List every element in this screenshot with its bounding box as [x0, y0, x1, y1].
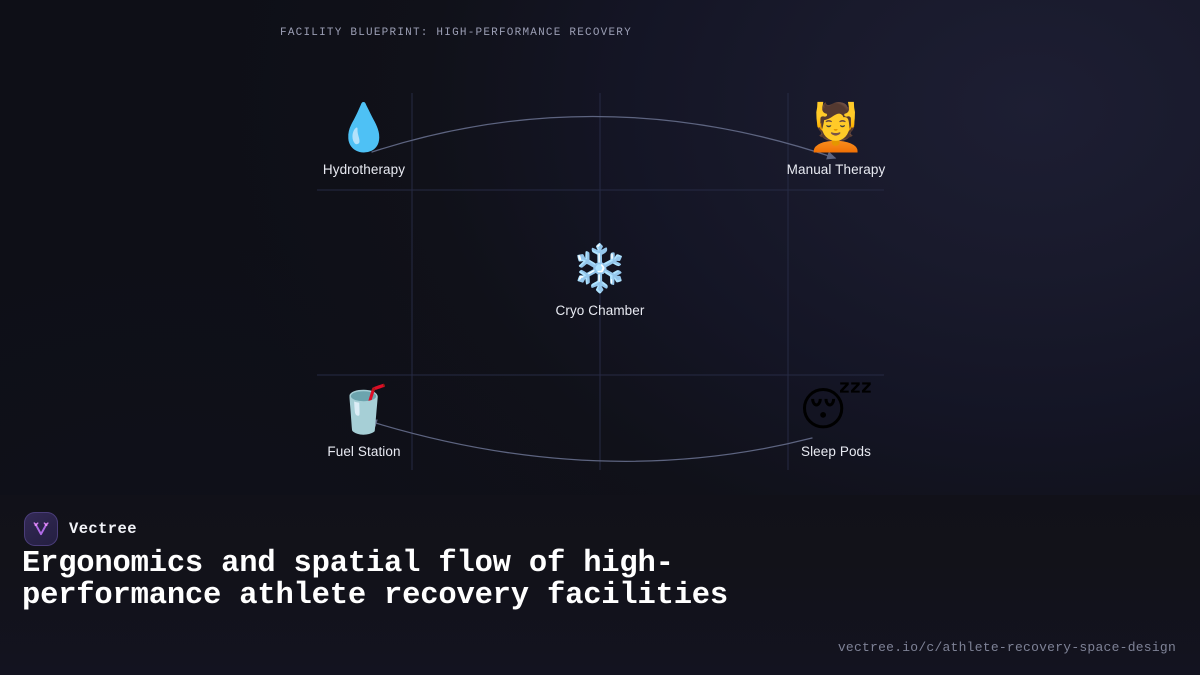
snowflake-icon: ❄️	[525, 245, 675, 291]
screenshot-root: FACILITY BLUEPRINT: HIGH-PERFORMANCE REC…	[0, 0, 1200, 675]
node-label-sleep-pods: Sleep Pods	[761, 444, 911, 459]
massage-icon: 💆	[761, 104, 911, 150]
diagram-node-fuel-station[interactable]: 🥤 Fuel Station	[289, 386, 439, 459]
brand-row[interactable]: Vectree	[24, 512, 137, 546]
node-label-fuel-station: Fuel Station	[289, 444, 439, 459]
facility-diagram: 💧 Hydrotherapy 💆 Manual Therapy ❄️ Cryo …	[0, 0, 1200, 495]
vectree-mark	[30, 518, 52, 540]
node-label-hydrotherapy: Hydrotherapy	[289, 162, 439, 177]
vectree-logo-icon	[24, 512, 58, 546]
cup-with-straw-icon: 🥤	[289, 386, 439, 432]
page-title: Ergonomics and spatial flow of high-perf…	[22, 548, 842, 612]
node-label-cryo-chamber: Cryo Chamber	[525, 303, 675, 318]
diagram-node-manual-therapy[interactable]: 💆 Manual Therapy	[761, 104, 911, 177]
sleeping-face-icon: 😴	[761, 386, 911, 432]
diagram-node-hydrotherapy[interactable]: 💧 Hydrotherapy	[289, 104, 439, 177]
node-label-manual-therapy: Manual Therapy	[761, 162, 911, 177]
droplet-icon: 💧	[289, 104, 439, 150]
brand-name: Vectree	[69, 520, 137, 538]
footer-bar: Vectree Ergonomics and spatial flow of h…	[0, 495, 1200, 675]
diagram-node-sleep-pods[interactable]: 😴 Sleep Pods	[761, 386, 911, 459]
source-url: vectree.io/c/athlete-recovery-space-desi…	[838, 640, 1176, 655]
diagram-node-cryo-chamber[interactable]: ❄️ Cryo Chamber	[525, 245, 675, 318]
